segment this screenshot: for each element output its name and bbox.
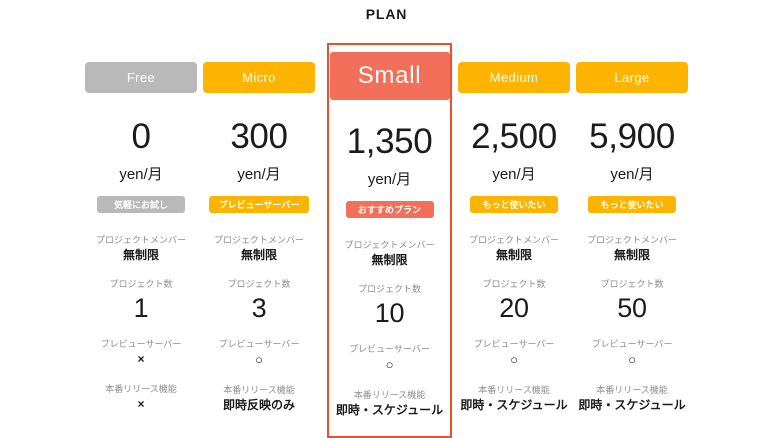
feature-label-release: 本番リリース機能: [85, 384, 197, 395]
feature-label-release: 本番リリース機能: [203, 385, 315, 396]
feature-label-members: プロジェクトメンバー: [85, 235, 197, 246]
feature-label-members: プロジェクトメンバー: [458, 235, 570, 246]
feature-label-projects: プロジェクト数: [203, 279, 315, 290]
feature-value-preview-server: ×: [85, 352, 197, 367]
plan-price-small: 1,350: [347, 124, 433, 159]
plan-header-free: Free: [85, 62, 197, 93]
feature-label-projects: プロジェクト数: [85, 279, 197, 290]
feature-value-members: 無制限: [458, 248, 570, 263]
feature-projects-large: プロジェクト数 50: [576, 279, 688, 326]
plan-price-unit-micro: yen/月: [237, 163, 280, 184]
feature-release-micro: 本番リリース機能 即時反映のみ: [203, 385, 315, 413]
feature-label-release: 本番リリース機能: [576, 385, 688, 396]
plan-column-free[interactable]: Free 0 yen/月 気軽にお試し プロジェクトメンバー 無制限 プロジェク…: [85, 62, 197, 412]
feature-value-preview-server: ○: [203, 352, 315, 368]
plan-column-medium[interactable]: Medium 2,500 yen/月 もっと使いたい プロジェクトメンバー 無制…: [458, 62, 570, 413]
feature-value-projects: 3: [203, 292, 315, 326]
feature-label-members: プロジェクトメンバー: [576, 235, 688, 246]
feature-label-projects: プロジェクト数: [458, 279, 570, 290]
plan-header-medium: Medium: [458, 62, 570, 93]
feature-value-projects: 20: [458, 292, 570, 326]
plan-column-large[interactable]: Large 5,900 yen/月 もっと使いたい プロジェクトメンバー 無制限…: [576, 62, 688, 413]
feature-members-micro: プロジェクトメンバー 無制限: [203, 235, 315, 263]
feature-members-large: プロジェクトメンバー 無制限: [576, 235, 688, 263]
plan-badge-micro: プレビューサーバー: [209, 196, 310, 213]
feature-preview-server-large: プレビューサーバー ○: [576, 339, 688, 368]
feature-value-preview-server: ○: [576, 352, 688, 368]
plan-header-small: Small: [330, 52, 450, 100]
plan-price-micro: 300: [230, 119, 287, 154]
plan-price-medium: 2,500: [471, 119, 557, 154]
plan-column-micro[interactable]: Micro 300 yen/月 プレビューサーバー プロジェクトメンバー 無制限…: [203, 62, 315, 413]
feature-members-free: プロジェクトメンバー 無制限: [85, 235, 197, 263]
feature-label-preview-server: プレビューサーバー: [85, 339, 197, 350]
plan-column-small[interactable]: Small 1,350 yen/月 おすすめプラン プロジェクトメンバー 無制限…: [327, 43, 452, 438]
feature-release-medium: 本番リリース機能 即時・スケジュール: [458, 385, 570, 413]
feature-label-release: 本番リリース機能: [329, 390, 450, 401]
feature-label-preview-server: プレビューサーバー: [458, 339, 570, 350]
feature-members-small: プロジェクトメンバー 無制限: [329, 240, 450, 268]
plan-badge-small: おすすめプラン: [346, 201, 434, 218]
feature-value-preview-server: ○: [458, 352, 570, 368]
feature-value-projects: 1: [85, 292, 197, 326]
plan-header-large: Large: [576, 62, 688, 93]
page-title: PLAN: [0, 6, 773, 22]
feature-value-release: 即時・スケジュール: [329, 403, 450, 418]
plan-price-unit-small: yen/月: [368, 168, 411, 189]
feature-preview-server-free: プレビューサーバー ×: [85, 339, 197, 367]
feature-members-medium: プロジェクトメンバー 無制限: [458, 235, 570, 263]
plan-price-unit-large: yen/月: [610, 163, 653, 184]
feature-projects-free: プロジェクト数 1: [85, 279, 197, 326]
plan-price-large: 5,900: [589, 119, 675, 154]
plan-price-free: 0: [131, 119, 150, 154]
feature-value-projects: 50: [576, 292, 688, 326]
feature-release-free: 本番リリース機能 ×: [85, 384, 197, 412]
feature-label-members: プロジェクトメンバー: [329, 240, 450, 251]
feature-value-release: ×: [85, 397, 197, 412]
feature-projects-medium: プロジェクト数 20: [458, 279, 570, 326]
plan-badge-large: もっと使いたい: [588, 196, 676, 213]
pricing-table: Free 0 yen/月 気軽にお試し プロジェクトメンバー 無制限 プロジェク…: [85, 62, 688, 438]
feature-value-projects: 10: [329, 297, 450, 331]
feature-release-large: 本番リリース機能 即時・スケジュール: [576, 385, 688, 413]
feature-projects-micro: プロジェクト数 3: [203, 279, 315, 326]
feature-label-projects: プロジェクト数: [576, 279, 688, 290]
plan-price-unit-medium: yen/月: [492, 163, 535, 184]
feature-label-release: 本番リリース機能: [458, 385, 570, 396]
feature-value-preview-server: ○: [329, 357, 450, 373]
feature-value-members: 無制限: [85, 248, 197, 263]
plan-header-micro: Micro: [203, 62, 315, 93]
feature-release-small: 本番リリース機能 即時・スケジュール: [329, 390, 450, 418]
feature-value-members: 無制限: [203, 248, 315, 263]
plan-badge-medium: もっと使いたい: [470, 196, 558, 213]
feature-projects-small: プロジェクト数 10: [329, 284, 450, 331]
feature-preview-server-micro: プレビューサーバー ○: [203, 339, 315, 368]
feature-label-preview-server: プレビューサーバー: [203, 339, 315, 350]
feature-label-projects: プロジェクト数: [329, 284, 450, 295]
feature-preview-server-small: プレビューサーバー ○: [329, 344, 450, 373]
feature-preview-server-medium: プレビューサーバー ○: [458, 339, 570, 368]
plan-badge-free: 気軽にお試し: [97, 196, 185, 213]
plan-price-unit-free: yen/月: [119, 163, 162, 184]
feature-value-members: 無制限: [329, 253, 450, 268]
feature-value-members: 無制限: [576, 248, 688, 263]
feature-label-preview-server: プレビューサーバー: [329, 344, 450, 355]
feature-label-members: プロジェクトメンバー: [203, 235, 315, 246]
feature-label-preview-server: プレビューサーバー: [576, 339, 688, 350]
